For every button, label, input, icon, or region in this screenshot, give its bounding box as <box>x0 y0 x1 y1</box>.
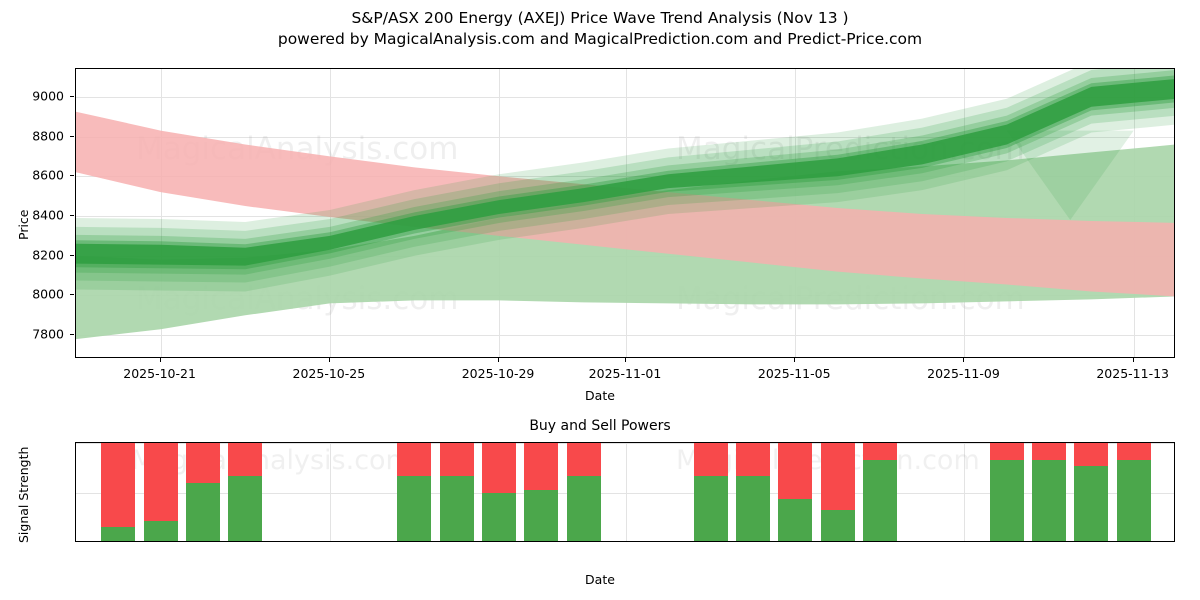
buy-power-segment <box>1117 460 1151 542</box>
price-x-tick-2: 2025-10-29 <box>462 366 535 381</box>
price-x-tickmark-2 <box>498 358 499 362</box>
buy-power-segment <box>1074 466 1108 542</box>
buy-power-segment <box>228 476 262 542</box>
sell-power-segment <box>1032 443 1066 460</box>
buy-power-segment <box>101 527 135 542</box>
price-x-tickmark-6 <box>1133 358 1134 362</box>
buy-sell-panel: Buy and Sell Powers Signal Strength 0.00… <box>0 400 1200 600</box>
buy-power-segment <box>524 490 558 542</box>
signal-bar[interactable] <box>1074 443 1108 542</box>
signal-bar[interactable] <box>863 443 897 542</box>
sell-power-segment <box>990 443 1024 460</box>
buy-power-segment <box>397 476 431 542</box>
sell-power-segment <box>144 443 178 521</box>
signal-bar[interactable] <box>397 443 431 542</box>
signal-bar[interactable] <box>821 443 855 542</box>
signal-bar[interactable] <box>482 443 516 542</box>
signal-bar[interactable] <box>1117 443 1151 542</box>
signal-bar[interactable] <box>567 443 601 542</box>
sell-power-segment <box>1117 443 1151 460</box>
chart-page: S&P/ASX 200 Energy (AXEJ) Price Wave Tre… <box>0 0 1200 600</box>
price-y-tick-3: 8400 <box>0 207 64 222</box>
price-x-tick-4: 2025-11-05 <box>758 366 831 381</box>
signal-bar[interactable] <box>101 443 135 542</box>
buy-power-segment <box>144 521 178 542</box>
buy-power-segment <box>821 510 855 542</box>
price-x-tick-3: 2025-11-01 <box>589 366 662 381</box>
sell-power-segment <box>694 443 728 476</box>
signal-bar[interactable] <box>186 443 220 542</box>
price-wave-bands <box>76 69 1175 358</box>
sell-power-segment <box>567 443 601 476</box>
sell-power-segment <box>863 443 897 460</box>
price-x-tickmark-4 <box>794 358 795 362</box>
buy-power-segment <box>990 460 1024 542</box>
price-y-tickmark-6 <box>70 96 74 97</box>
buy-sell-plot-area: MagicalAnalysis.com MagicalPrediction.co… <box>75 442 1175 542</box>
price-x-tick-0: 2025-10-21 <box>123 366 196 381</box>
price-y-tickmark-3 <box>70 215 74 216</box>
signal-bar[interactable] <box>144 443 178 542</box>
price-y-tick-2: 8200 <box>0 247 64 262</box>
buy-power-segment <box>778 499 812 542</box>
sell-power-segment <box>821 443 855 510</box>
price-y-tickmark-4 <box>70 175 74 176</box>
buy-sell-title: Buy and Sell Powers <box>0 418 1200 434</box>
buy-power-segment <box>1032 460 1066 542</box>
price-y-tick-0: 7800 <box>0 327 64 342</box>
price-plot-area: MagicalAnalysis.com MagicalPrediction.co… <box>75 68 1175 358</box>
price-y-tick-4: 8600 <box>0 168 64 183</box>
price-y-tick-5: 8800 <box>0 128 64 143</box>
buy-power-segment <box>736 476 770 542</box>
price-y-tick-6: 9000 <box>0 88 64 103</box>
price-x-tickmark-3 <box>625 358 626 362</box>
buy-power-segment <box>186 483 220 542</box>
signal-bar[interactable] <box>440 443 474 542</box>
price-x-tick-6: 2025-11-13 <box>1096 366 1169 381</box>
sell-power-segment <box>778 443 812 499</box>
sell-power-segment <box>101 443 135 527</box>
buy-power-segment <box>440 476 474 542</box>
buy-power-segment <box>694 476 728 542</box>
buy-power-segment <box>482 493 516 542</box>
sell-power-segment <box>228 443 262 476</box>
price-x-tickmark-1 <box>329 358 330 362</box>
signal-strength-axis-label: Signal Strength <box>16 447 31 543</box>
price-wave-panel: Price 7800800082008400860088009000 2025-… <box>0 0 1200 400</box>
sell-power-segment <box>736 443 770 476</box>
signal-bar[interactable] <box>778 443 812 542</box>
price-y-tickmark-5 <box>70 136 74 137</box>
sell-power-segment <box>440 443 474 476</box>
signal-bar[interactable] <box>228 443 262 542</box>
signal-bars <box>76 443 1174 541</box>
buy-power-segment <box>567 476 601 542</box>
signal-bar[interactable] <box>736 443 770 542</box>
sell-power-segment <box>397 443 431 476</box>
sell-power-segment <box>482 443 516 493</box>
price-y-tickmark-1 <box>70 294 74 295</box>
signal-bar[interactable] <box>524 443 558 542</box>
price-y-tickmark-0 <box>70 334 74 335</box>
price-x-tick-5: 2025-11-09 <box>927 366 1000 381</box>
signal-bar[interactable] <box>990 443 1024 542</box>
signal-bar[interactable] <box>1032 443 1066 542</box>
sell-power-segment <box>186 443 220 483</box>
signal-date-axis-label: Date <box>0 572 1200 587</box>
price-x-tickmark-0 <box>160 358 161 362</box>
sell-power-segment <box>524 443 558 490</box>
price-x-tick-1: 2025-10-25 <box>293 366 366 381</box>
signal-bar[interactable] <box>694 443 728 542</box>
price-x-tickmark-5 <box>963 358 964 362</box>
price-y-tick-1: 8000 <box>0 287 64 302</box>
price-y-tickmark-2 <box>70 255 74 256</box>
sell-power-segment <box>1074 443 1108 466</box>
buy-power-segment <box>863 460 897 542</box>
